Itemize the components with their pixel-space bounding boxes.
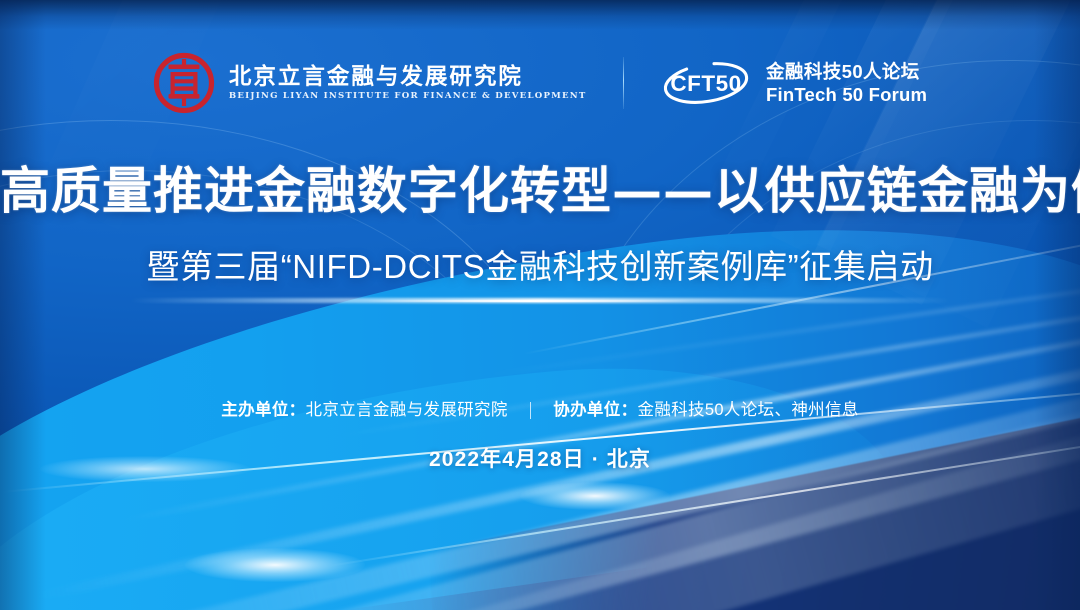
logo-bar: 北京立言金融与发展研究院 BEIJING LIYAN INSTITUTE FOR… [0, 52, 1080, 114]
institute-logo: 北京立言金融与发展研究院 BEIJING LIYAN INSTITUTE FOR… [153, 52, 587, 114]
institute-name-en: BEIJING LIYAN INSTITUTE FOR FINANCE & DE… [229, 92, 587, 101]
organizer-separator [530, 402, 532, 419]
forum-logo: CFT50 金融科技50人论坛 FinTech 50 Forum [660, 57, 927, 109]
poster-content: 北京立言金融与发展研究院 BEIJING LIYAN INSTITUTE FOR… [0, 0, 1080, 610]
co-organizer-value: 金融科技50人论坛、神州信息 [637, 401, 858, 419]
page-subtitle: 暨第三届“NIFD-DCITS金融科技创新案例库”征集启动 [0, 248, 1080, 286]
host-organizer-label: 主办单位： [221, 401, 305, 419]
forum-name-en: FinTech 50 Forum [766, 84, 927, 106]
institute-name-block: 北京立言金融与发展研究院 BEIJING LIYAN INSTITUTE FOR… [229, 65, 587, 102]
date-location: 2022年4月28日 · 北京 [0, 443, 1080, 473]
institute-name-cn: 北京立言金融与发展研究院 [229, 65, 587, 90]
cft50-mark-icon: CFT50 [660, 57, 752, 109]
forum-name-block: 金融科技50人论坛 FinTech 50 Forum [766, 61, 927, 106]
page-title: 高质量推进金融数字化转型——以供应链金融为例 [0, 163, 1080, 218]
organizers-line: 主办单位：北京立言金融与发展研究院 协办单位：金融科技50人论坛、神州信息 [0, 400, 1080, 421]
host-organizer: 主办单位：北京立言金融与发展研究院 [221, 400, 507, 421]
co-organizer: 协办单位：金融科技50人论坛、神州信息 [553, 400, 859, 421]
red-seal-icon [153, 52, 215, 114]
host-organizer-value: 北京立言金融与发展研究院 [306, 401, 508, 419]
forum-name-cn: 金融科技50人论坛 [766, 61, 927, 83]
logo-divider [623, 57, 625, 109]
svg-text:CFT50: CFT50 [670, 71, 741, 96]
event-poster: 北京立言金融与发展研究院 BEIJING LIYAN INSTITUTE FOR… [0, 0, 1080, 610]
co-organizer-label: 协办单位： [553, 401, 637, 419]
